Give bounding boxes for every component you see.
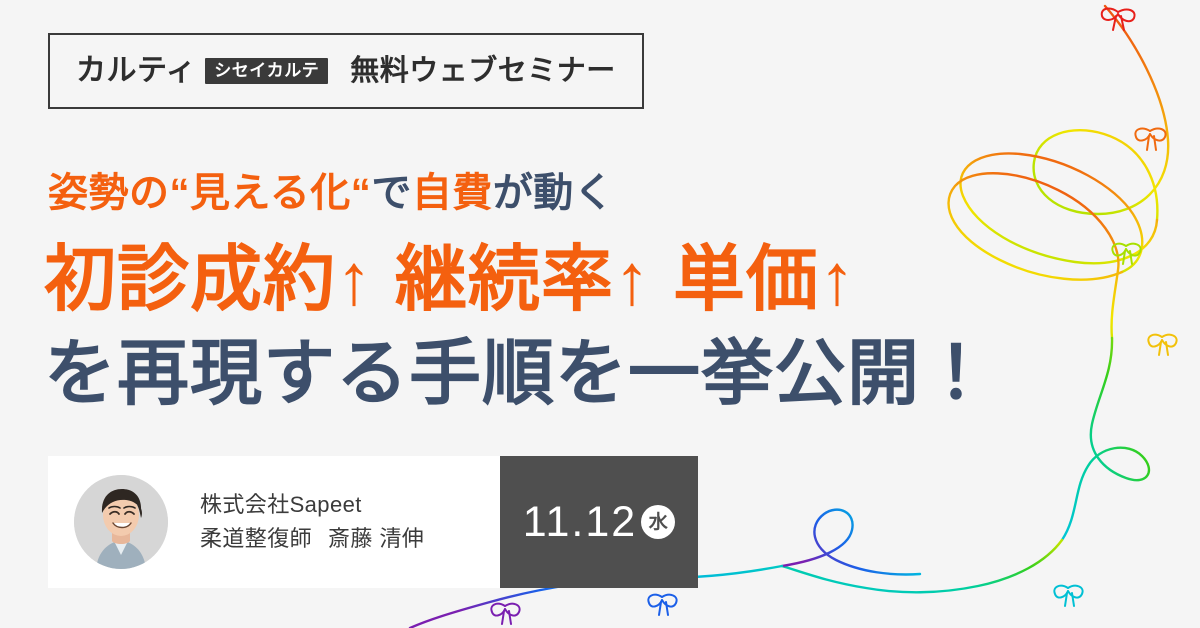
bottom-info-strip: 株式会社Sapeet 柔道整復師斎藤 清伸 11.12 水 [48,456,698,588]
sub-headline-part-2: で [371,171,412,215]
date-block: 11.12 水 [500,456,698,588]
date-day-of-week-badge: 水 [641,505,675,539]
speaker-person: 柔道整復師斎藤 清伸 [200,522,424,556]
headline-metric-unit-price: 単価↑ [673,240,856,320]
seminar-header-box: カルティ シセイカルテ 無料ウェブセミナー [48,33,644,109]
sub-headline-part-1: 姿勢の“見える化“ [48,171,371,215]
headline-line-2: を再現する手順を一挙公開！ [44,337,993,413]
speaker-company: 株式会社Sapeet [200,488,424,522]
sub-headline: 姿勢の“見える化“で自費が動く [48,170,614,216]
date-value: 11.12 [523,501,637,544]
brand-tag-badge: シセイカルテ [205,58,328,84]
speaker-card: 株式会社Sapeet 柔道整復師斎藤 清伸 [48,456,500,588]
headline-line-1: 初診成約↑継続率↑単価↑ [44,243,856,319]
speaker-avatar [74,475,168,569]
brand-name: カルティ [76,56,196,86]
sub-headline-part-4: が動く [493,171,615,215]
header-title: 無料ウェブセミナー [350,57,616,86]
date-inner: 11.12 水 [523,501,675,544]
headline-metric-first-visit: 初診成約↑ [44,240,373,320]
speaker-text: 株式会社Sapeet 柔道整復師斎藤 清伸 [200,488,424,556]
headline-metric-retention: 継続率↑ [395,240,651,320]
poster-canvas: カルティ シセイカルテ 無料ウェブセミナー 姿勢の“見える化“で自費が動く 初診… [0,0,1200,628]
speaker-name: 斎藤 清伸 [328,526,424,551]
speaker-role: 柔道整復師 [200,526,312,551]
sub-headline-part-3: 自費 [412,171,493,215]
